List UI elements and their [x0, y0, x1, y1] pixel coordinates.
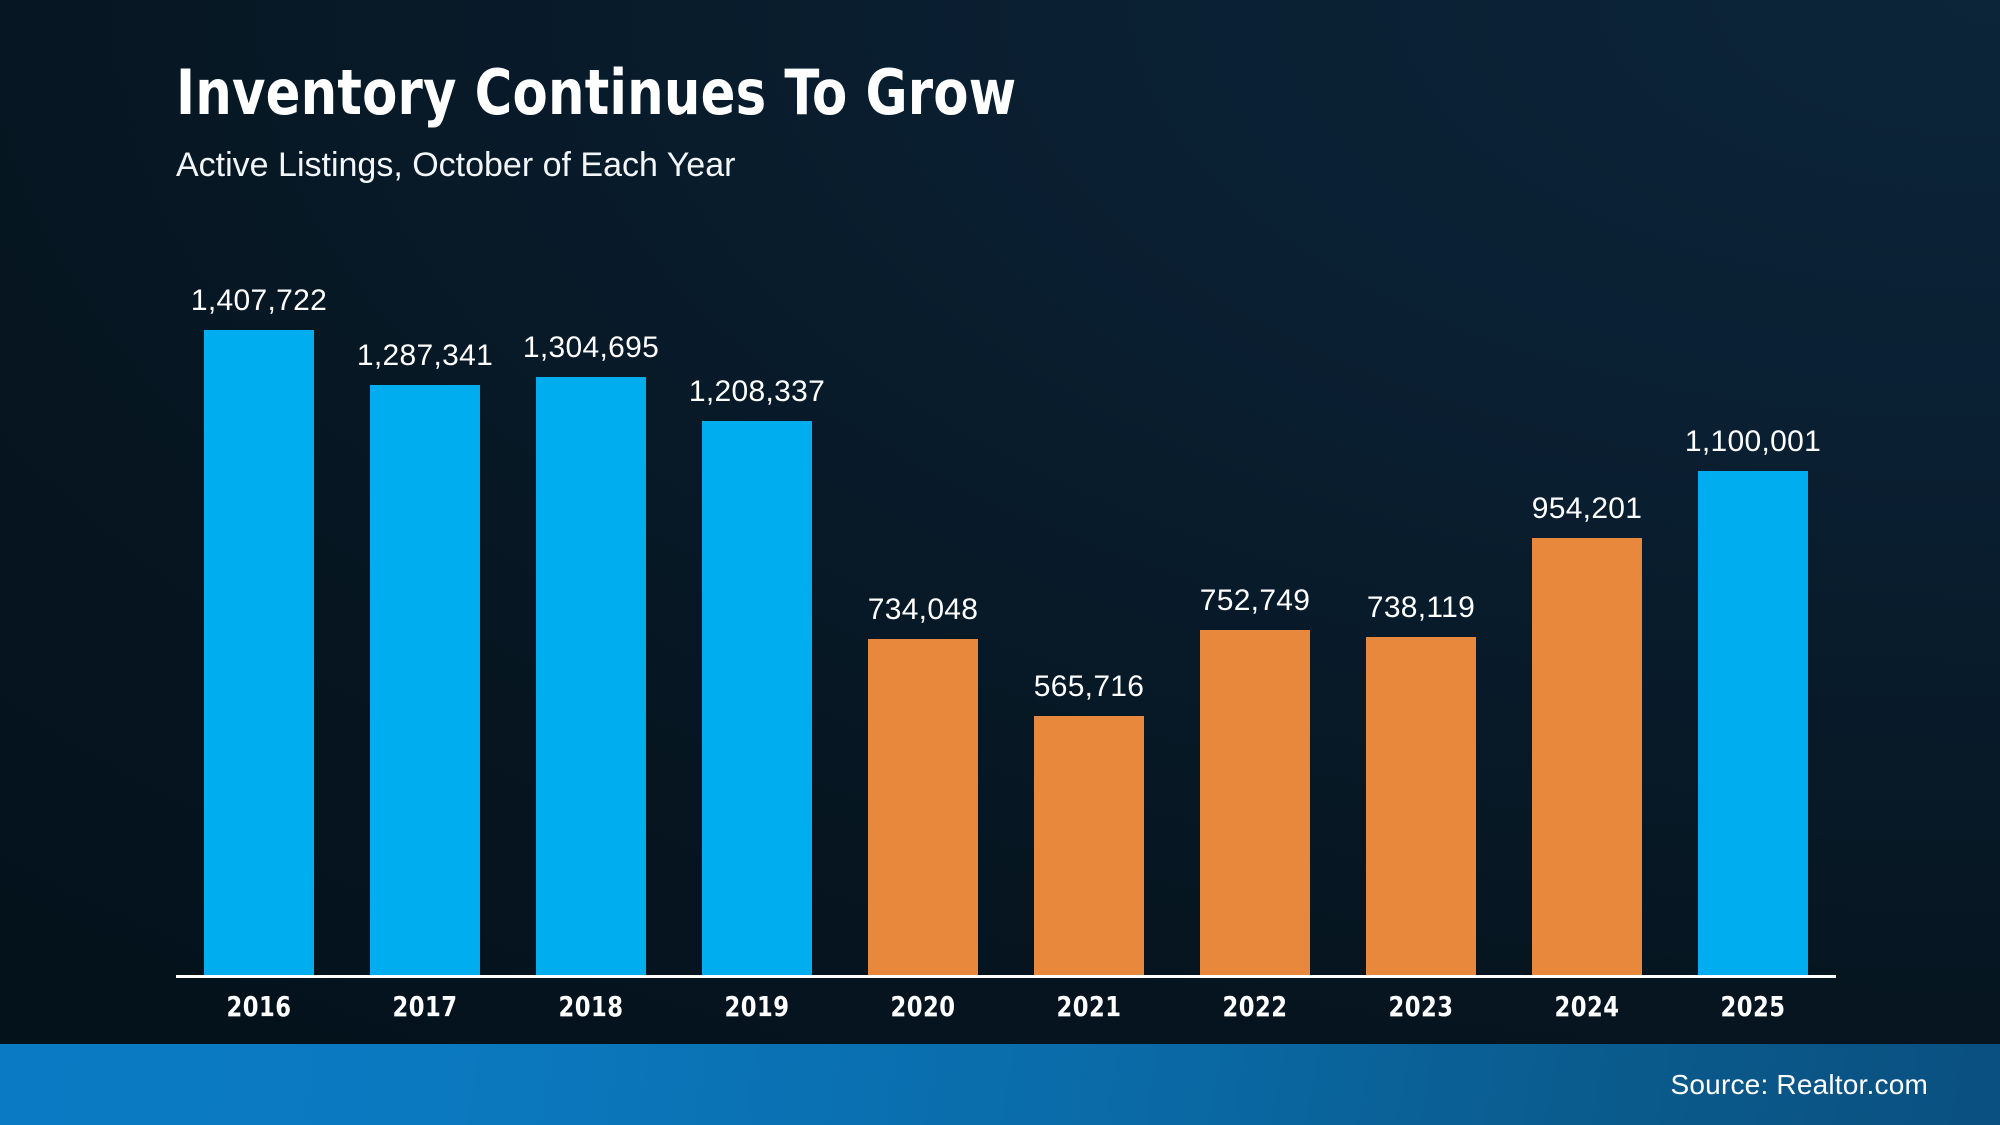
- bar-value-label: 734,048: [868, 593, 979, 627]
- bar-2022[interactable]: [1200, 630, 1310, 975]
- slide-canvas: Inventory Continues To Grow Active Listi…: [0, 0, 2000, 1125]
- bar-group-2021[interactable]: 565,716: [1006, 200, 1172, 975]
- bar-2016[interactable]: [204, 330, 314, 975]
- bar-2018[interactable]: [536, 377, 646, 975]
- page-title: Inventory Continues To Grow: [176, 60, 1648, 125]
- bar-2024[interactable]: [1532, 538, 1642, 975]
- bar-group-2016[interactable]: 1,407,722: [176, 200, 342, 975]
- bar-value-label: 738,119: [1367, 591, 1475, 625]
- bar-group-2024[interactable]: 954,201: [1504, 200, 1670, 975]
- bar-value-label: 752,749: [1200, 584, 1311, 618]
- bar-group-2019[interactable]: 1,208,337: [674, 200, 840, 975]
- source-attribution: Source: Realtor.com: [1671, 1069, 1928, 1101]
- bar-value-label: 1,304,695: [523, 331, 659, 365]
- bar-group-2025[interactable]: 1,100,001: [1670, 200, 1836, 975]
- x-tick-2018: 2018: [516, 990, 665, 1023]
- bar-value-label: 565,716: [1034, 670, 1145, 704]
- x-tick-2022: 2022: [1180, 990, 1329, 1023]
- x-tick-2023: 2023: [1346, 990, 1495, 1023]
- x-tick-2019: 2019: [682, 990, 831, 1023]
- slide-header: Inventory Continues To Grow Active Listi…: [176, 60, 1776, 184]
- bar-2020[interactable]: [868, 639, 978, 975]
- bar-2025[interactable]: [1698, 471, 1808, 975]
- x-axis-line: [176, 975, 1836, 978]
- bar-group-2018[interactable]: 1,304,695: [508, 200, 674, 975]
- bar-group-2023[interactable]: 738,119: [1338, 200, 1504, 975]
- bar-chart-plot-area: 1,407,7221,287,3411,304,6951,208,337734,…: [176, 200, 1836, 975]
- bar-value-label: 954,201: [1532, 492, 1643, 526]
- x-tick-2021: 2021: [1014, 990, 1163, 1023]
- bar-2017[interactable]: [370, 385, 480, 975]
- bar-value-label: 1,100,001: [1685, 425, 1821, 459]
- x-tick-2025: 2025: [1678, 990, 1827, 1023]
- bar-2019[interactable]: [702, 421, 812, 975]
- x-tick-2017: 2017: [350, 990, 499, 1023]
- page-subtitle: Active Listings, October of Each Year: [176, 147, 1776, 184]
- x-tick-2016: 2016: [184, 990, 333, 1023]
- bar-group-2020[interactable]: 734,048: [840, 200, 1006, 975]
- bar-value-label: 1,208,337: [689, 375, 825, 409]
- footer-bar: Source: Realtor.com: [0, 1044, 2000, 1125]
- bar-series: 1,407,7221,287,3411,304,6951,208,337734,…: [176, 200, 1836, 975]
- bar-2023[interactable]: [1366, 637, 1476, 975]
- bar-2021[interactable]: [1034, 716, 1144, 975]
- x-tick-2024: 2024: [1512, 990, 1661, 1023]
- x-tick-2020: 2020: [848, 990, 997, 1023]
- bar-value-label: 1,407,722: [191, 284, 327, 318]
- bar-group-2017[interactable]: 1,287,341: [342, 200, 508, 975]
- bar-value-label: 1,287,341: [357, 339, 493, 373]
- x-axis-tick-labels: 2016201720182019202020212022202320242025: [176, 990, 1836, 1023]
- bar-group-2022[interactable]: 752,749: [1172, 200, 1338, 975]
